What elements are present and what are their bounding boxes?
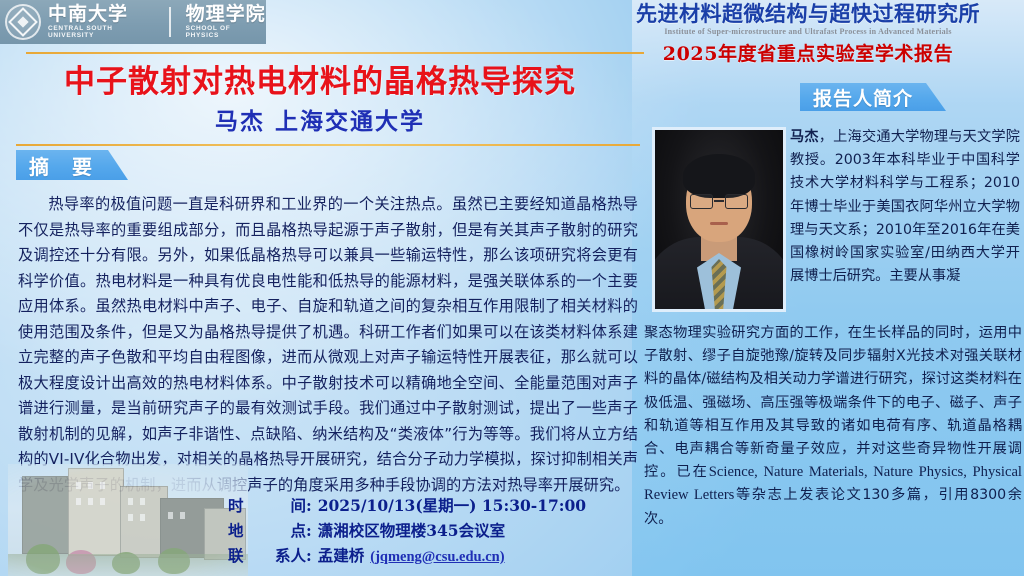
place-colon: : (306, 518, 312, 543)
seminar-series-title: 2025年度省重点实验室学术报告 (598, 39, 1018, 66)
speaker-portrait (652, 127, 786, 312)
speaker-bio-text-top: 马杰，上海交通大学物理与天文学院教授。2003年本科毕业于中国科学技术大学材料科… (790, 126, 1020, 288)
contact-colon: : (306, 543, 312, 568)
school-name-group: 物理学院 SCHOOL OF PHYSICS (186, 5, 266, 39)
logo-divider (169, 7, 171, 37)
gold-divider-top (26, 52, 626, 54)
event-place-row: 地 点 : 潇湘校区物理楼345会议室 (228, 518, 586, 543)
event-place-value: 潇湘校区物理楼345会议室 (318, 518, 505, 543)
contact-email-link[interactable]: (jqmeng@csu.edu.cn) (370, 545, 504, 570)
speaker-bio-text-bottom: 聚态物理实验研究方面的工作，在生长样品的同时，运用中子散射、缪子自旋弛豫/旋转及… (644, 322, 1022, 531)
abstract-banner-label: 摘 要 (29, 151, 100, 180)
gold-divider-abstract (16, 144, 640, 146)
university-name-en: CENTRAL SOUTH UNIVERSITY (48, 26, 161, 39)
time-colon: : (306, 493, 312, 518)
event-time-value: 2025/10/13(星期一) 15:30-17:00 (318, 493, 586, 518)
university-name-group: 中南大学 CENTRAL SOUTH UNIVERSITY (48, 5, 161, 39)
abstract-body-text: 热导率的极值问题一直是科研界和工业界的一个关注热点。虽然已主要经知道晶格热导不仅… (18, 192, 638, 498)
event-place-label: 地 点 (228, 518, 306, 543)
school-name-en: SCHOOL OF PHYSICS (186, 26, 266, 39)
event-contact-name: 孟建桥 (318, 543, 365, 568)
event-time-label: 时 间 (228, 493, 306, 518)
speaker-bio-part1: ，上海交通大学物理与天文学院教授。2003年本科毕业于中国科学技术大学材料科学与… (790, 129, 1020, 284)
event-contact-row: 联 系人 : 孟建桥 (jqmeng@csu.edu.cn) (228, 543, 586, 570)
page-title: 中子散射对热电材料的晶格热导探究 (0, 56, 640, 101)
speaker-bio-banner-label: 报告人简介 (813, 84, 913, 111)
institute-header: 先进材料超微结构与超快过程研究所 Institute of Super-micr… (598, 2, 1018, 66)
abstract-banner: 摘 要 (16, 150, 128, 180)
institute-name-cn: 先进材料超微结构与超快过程研究所 (598, 2, 1018, 26)
gold-divider-top-right (600, 52, 644, 54)
event-time-row: 时 间 : 2025/10/13(星期一) 15:30-17:00 (228, 493, 586, 518)
speaker-bio-banner: 报告人简介 (800, 83, 946, 111)
university-logo-band: 中南大学 CENTRAL SOUTH UNIVERSITY 物理学院 SCHOO… (0, 0, 266, 44)
poster-canvas: 中南大学 CENTRAL SOUTH UNIVERSITY 物理学院 SCHOO… (0, 0, 1024, 576)
speaker-affiliation-line: 马杰 上海交通大学 (0, 102, 640, 136)
institute-name-en: Institute of Super-microstructure and Ul… (598, 27, 1018, 36)
campus-building-photo (8, 464, 248, 576)
speaker-name: 马杰 (790, 129, 819, 145)
event-details: 时 间 : 2025/10/13(星期一) 15:30-17:00 地 点 : … (228, 493, 586, 570)
csu-emblem-icon (5, 4, 41, 40)
speaker-bio-part2: 聚态物理实验研究方面的工作，在生长样品的同时，运用中子散射、缪子自旋弛豫/旋转及… (644, 325, 1022, 480)
event-contact-label: 联 系人 (228, 543, 306, 568)
university-name-cn: 中南大学 (48, 5, 161, 24)
school-name-cn: 物理学院 (186, 5, 266, 24)
